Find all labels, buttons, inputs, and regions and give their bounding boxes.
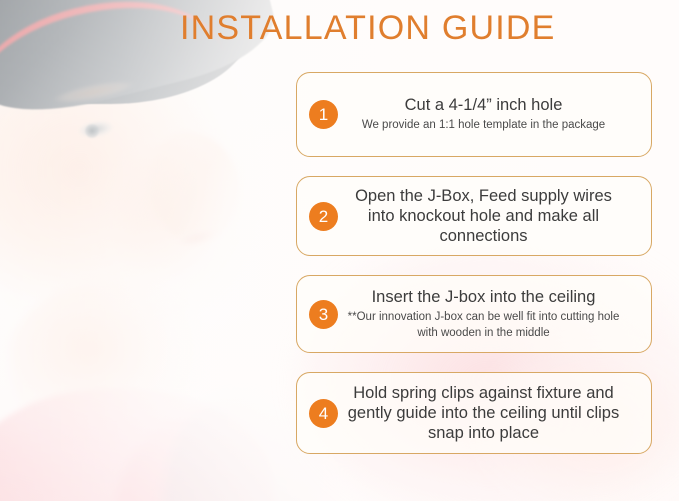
step-list: 1 Cut a 4-1/4” inch hole We provide an 1… [296,72,652,454]
step-title-3: Insert the J-box into the ceiling [344,287,623,307]
step-note-1: We provide an 1:1 hole template in the p… [344,118,623,133]
step-note-3: **Our innovation J-box can be well fit i… [344,310,623,340]
step-number-badge-3: 3 [309,300,338,329]
page-title: INSTALLATION GUIDE [180,9,556,48]
step-number-badge-1: 1 [309,100,338,129]
step-title-4: Hold spring clips against fixture and ge… [344,383,623,443]
installation-guide-page: INSTALLATION GUIDE 1 Cut a 4-1/4” inch h… [0,0,679,501]
step-number-badge-4: 4 [309,399,338,428]
step-title-2: Open the J-Box, Feed supply wires into k… [344,186,623,246]
step-card-4: 4 Hold spring clips against fixture and … [296,372,652,454]
step-content-1: Cut a 4-1/4” inch hole We provide an 1:1… [344,95,637,133]
step-content-2: Open the J-Box, Feed supply wires into k… [344,186,637,246]
step-card-2: 2 Open the J-Box, Feed supply wires into… [296,176,652,256]
step-number-badge-2: 2 [309,202,338,231]
step-content-4: Hold spring clips against fixture and ge… [344,383,637,443]
step-title-1: Cut a 4-1/4” inch hole [344,95,623,115]
step-card-1: 1 Cut a 4-1/4” inch hole We provide an 1… [296,72,652,157]
step-card-3: 3 Insert the J-box into the ceiling **Ou… [296,275,652,353]
step-content-3: Insert the J-box into the ceiling **Our … [344,287,637,340]
